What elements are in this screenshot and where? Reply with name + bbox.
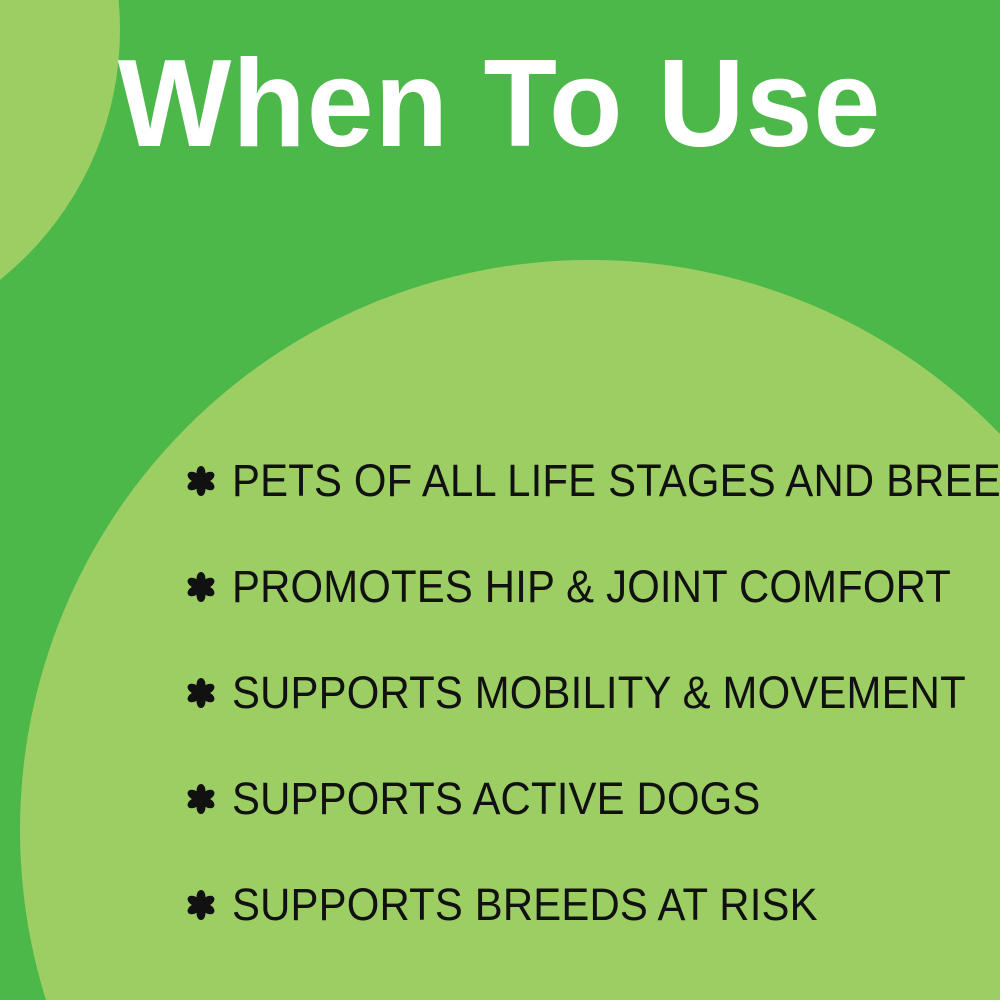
flower-asterisk-icon: [186, 890, 216, 920]
benefits-list: PETS OF ALL LIFE STAGES AND BREEDS PRO: [186, 452, 986, 932]
flower-asterisk-icon: [186, 678, 216, 708]
list-item-label: SUPPORTS ACTIVE DOGS: [232, 776, 761, 821]
list-item: PROMOTES HIP & JOINT COMFORT: [186, 558, 986, 614]
list-item: SUPPORTS BREEDS AT RISK: [186, 876, 986, 932]
page-title: When To Use: [118, 42, 882, 166]
list-item-label: PETS OF ALL LIFE STAGES AND BREEDS: [232, 458, 1000, 503]
flower-asterisk-icon: [186, 466, 216, 496]
list-item-label: SUPPORTS MOBILITY & MOVEMENT: [232, 670, 966, 715]
flower-asterisk-icon: [186, 784, 216, 814]
flower-asterisk-icon: [186, 572, 216, 602]
poster-canvas: When To Use PETS OF ALL LIFE STAG: [0, 0, 1000, 1000]
page-title-container: When To Use: [0, 42, 1000, 166]
list-item-label: SUPPORTS BREEDS AT RISK: [232, 882, 818, 927]
list-item: SUPPORTS ACTIVE DOGS: [186, 770, 986, 826]
list-item-label: PROMOTES HIP & JOINT COMFORT: [232, 564, 951, 609]
list-item: PETS OF ALL LIFE STAGES AND BREEDS: [186, 452, 986, 508]
list-item: SUPPORTS MOBILITY & MOVEMENT: [186, 664, 986, 720]
